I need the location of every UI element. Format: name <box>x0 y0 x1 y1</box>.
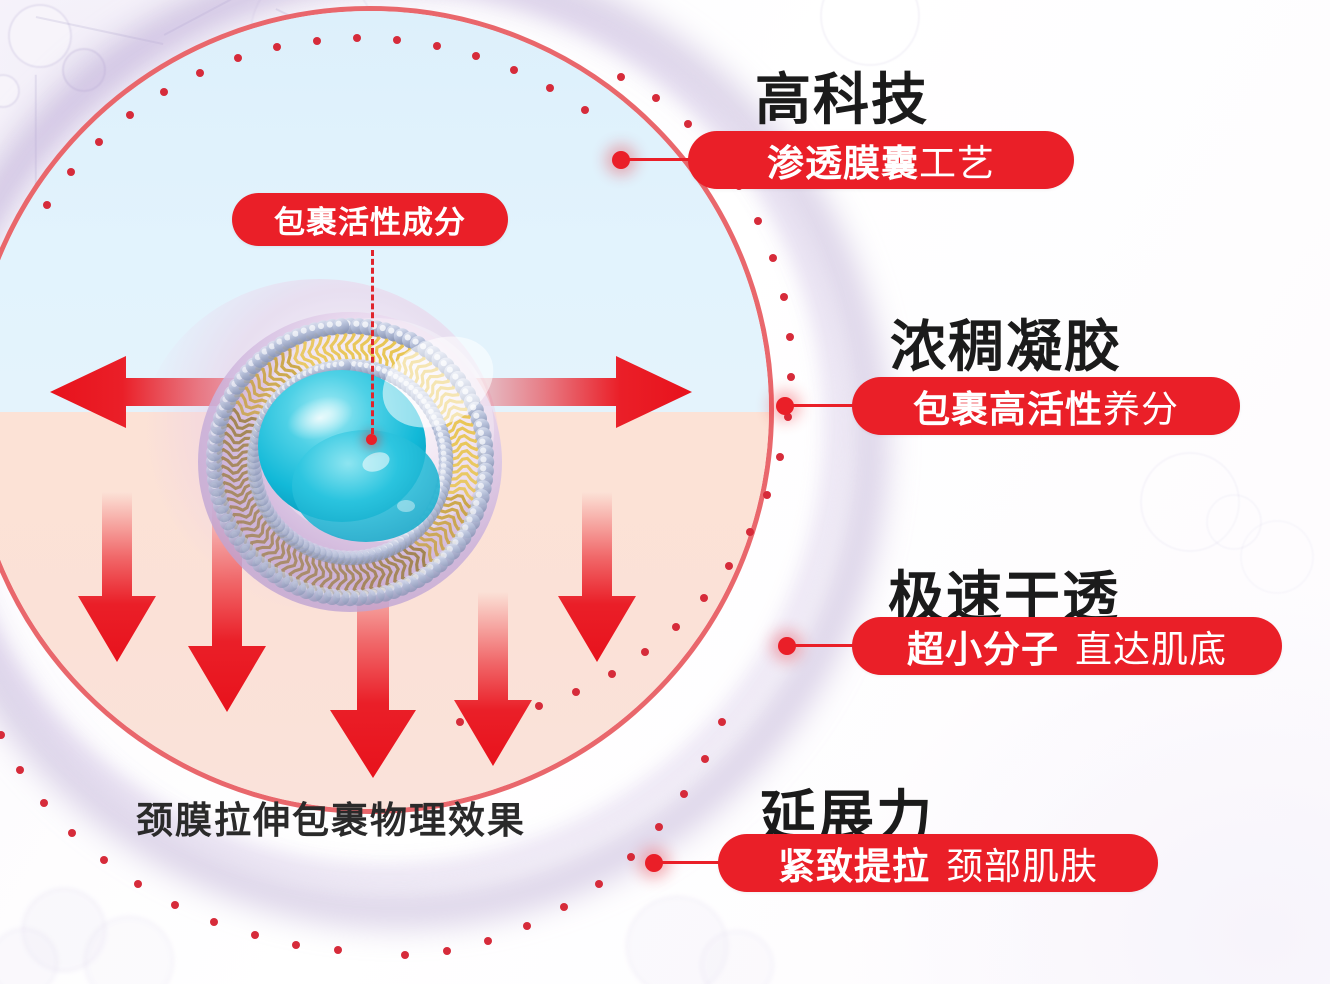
callout-leader-line <box>794 644 860 647</box>
callout-pill-soft: 颈部肌肤 <box>930 836 1098 890</box>
callout-pill-strong: 包裹高活性 <box>913 379 1103 433</box>
callout-pill[interactable]: 渗透膜囊工艺 <box>688 131 1074 189</box>
callout-pill-strong: 紧致提拉 <box>778 836 930 890</box>
callout-headline: 高科技 <box>755 55 929 136</box>
pointer-dashed-line <box>371 250 374 434</box>
down-arrow-icon <box>558 492 636 664</box>
callout-pill-strong: 渗透膜囊 <box>767 133 919 187</box>
infographic-canvas: 包裹活性成分 颈膜拉伸包裹物理效果 高科技 渗透膜囊工艺 浓稠凝胶 包裹高活性养… <box>0 0 1330 984</box>
callout-pill-soft: 直达肌底 <box>1059 619 1227 673</box>
callout-pill-soft: 工艺 <box>919 133 995 187</box>
callout-headline: 浓稠凝胶 <box>890 302 1122 383</box>
callout-pill[interactable]: 紧致提拉颈部肌肤 <box>718 834 1158 892</box>
callout-pill-soft: 养分 <box>1103 379 1179 433</box>
callout-leader-line <box>661 861 725 864</box>
callout-pill[interactable]: 超小分子直达肌底 <box>852 617 1282 675</box>
pointer-target-dot <box>366 434 377 445</box>
callout-pill-strong: 超小分子 <box>907 619 1059 673</box>
inner-label-pill[interactable]: 包裹活性成分 <box>232 193 508 246</box>
inner-label-text: 包裹活性成分 <box>274 197 466 242</box>
diagram-bottom-caption: 颈膜拉伸包裹物理效果 <box>136 790 526 844</box>
down-arrow-icon <box>78 492 156 664</box>
liposome-capsule-graphic <box>170 310 530 630</box>
callout-pill[interactable]: 包裹高活性养分 <box>852 377 1240 435</box>
